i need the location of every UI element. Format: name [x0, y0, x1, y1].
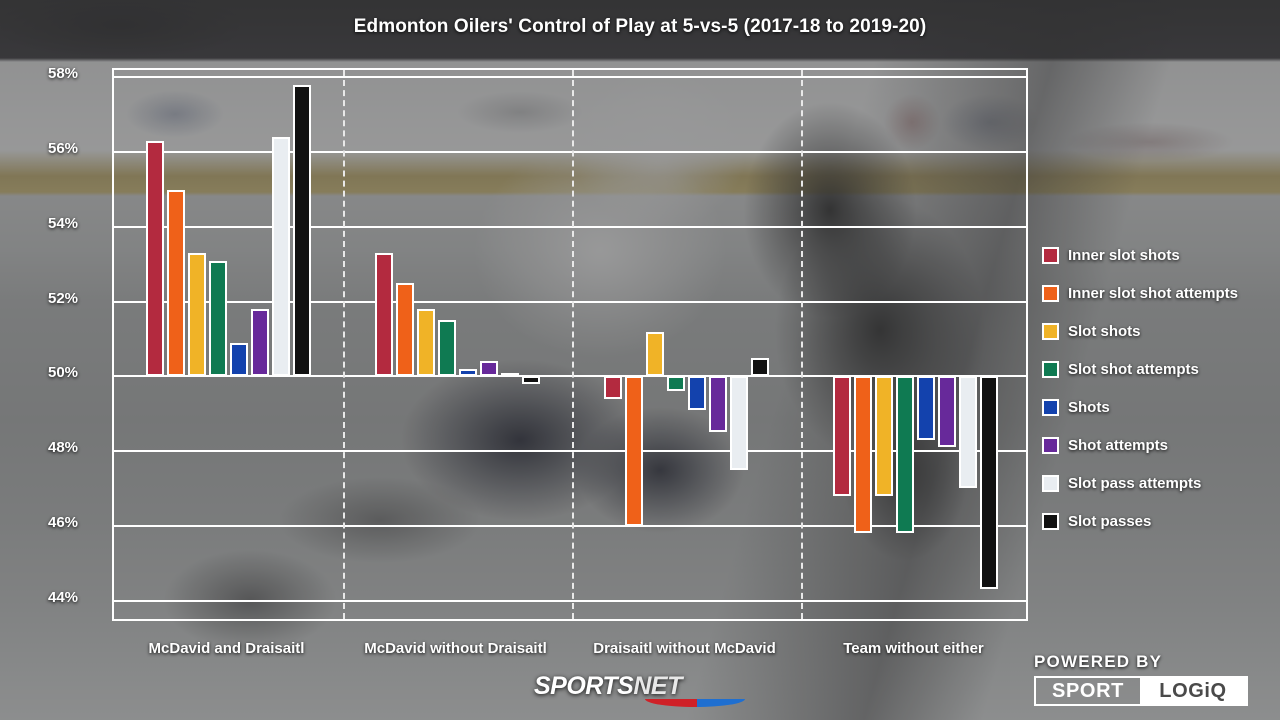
legend-item: Slot pass attempts	[1042, 464, 1272, 502]
bar	[272, 137, 290, 376]
bar	[480, 361, 498, 376]
y-axis-tick-56: 56%	[48, 140, 94, 157]
group-separator	[343, 70, 345, 619]
legend-item: Shots	[1042, 388, 1272, 426]
bar	[438, 320, 456, 376]
x-axis-label-group-1: McDavid and Draisaitl	[112, 640, 341, 657]
legend-label: Slot shots	[1068, 323, 1141, 340]
gridline	[114, 525, 1026, 527]
bar	[938, 376, 956, 447]
bar	[375, 253, 393, 376]
bar	[959, 376, 977, 488]
legend-item: Slot passes	[1042, 502, 1272, 540]
legend-label: Inner slot shot attempts	[1068, 285, 1238, 302]
powered-by-block: POWERED BY SPORT LOGiQ	[1034, 652, 1254, 706]
bar	[646, 332, 664, 377]
y-axis-tick-46: 46%	[48, 514, 94, 531]
bar	[167, 190, 185, 377]
x-axis-label-group-4: Team without either	[799, 640, 1028, 657]
bar	[980, 376, 998, 589]
legend-label: Slot shot attempts	[1068, 361, 1199, 378]
y-axis-tick-58: 58%	[48, 65, 94, 82]
y-axis-tick-44: 44%	[48, 589, 94, 606]
legend-item: Slot shots	[1042, 312, 1272, 350]
sportlogiq-logiq-text: LOGiQ	[1140, 678, 1246, 704]
legend-item: Inner slot shots	[1042, 236, 1272, 274]
legend-swatch-icon	[1042, 475, 1059, 492]
legend-swatch-icon	[1042, 323, 1059, 340]
sportlogiq-sport-text: SPORT	[1036, 678, 1140, 704]
bar	[459, 369, 477, 376]
bar	[896, 376, 914, 533]
legend-label: Slot pass attempts	[1068, 475, 1201, 492]
chart-screenshot: Edmonton Oilers' Control of Play at 5-vs…	[0, 0, 1280, 720]
bar	[293, 85, 311, 376]
bar	[667, 376, 685, 391]
x-axis-label-group-2: McDavid without Draisaitl	[341, 640, 570, 657]
bar	[396, 283, 414, 376]
bar	[751, 358, 769, 377]
bar	[209, 261, 227, 377]
group-separator	[801, 70, 803, 619]
legend-swatch-icon	[1042, 437, 1059, 454]
y-axis-tick-54: 54%	[48, 215, 94, 232]
sportsnet-sport-text: SPORTS	[534, 672, 633, 700]
gridline	[114, 151, 1026, 153]
x-axis-label-group-3: Draisaitl without McDavid	[570, 640, 799, 657]
bar	[709, 376, 727, 432]
sportsnet-net-text: NET	[633, 672, 682, 700]
bar	[501, 373, 519, 377]
sportlogiq-lockup: SPORT LOGiQ	[1034, 676, 1248, 706]
bar	[917, 376, 935, 440]
legend-swatch-icon	[1042, 361, 1059, 378]
legend-label: Inner slot shots	[1068, 247, 1180, 264]
bar	[875, 376, 893, 496]
gridline	[114, 301, 1026, 303]
chart-title: Edmonton Oilers' Control of Play at 5-vs…	[0, 16, 1280, 38]
legend-item: Inner slot shot attempts	[1042, 274, 1272, 312]
bar	[146, 141, 164, 376]
gridline	[114, 226, 1026, 228]
group-separator	[572, 70, 574, 619]
legend-item: Shot attempts	[1042, 426, 1272, 464]
sportsnet-logo: SPORTSNET	[534, 672, 682, 701]
bar	[604, 376, 622, 398]
legend-swatch-icon	[1042, 399, 1059, 416]
chart-legend: Inner slot shotsInner slot shot attempts…	[1042, 236, 1272, 540]
powered-by-text: POWERED BY	[1034, 652, 1254, 672]
bar	[522, 376, 540, 383]
bar	[625, 376, 643, 525]
legend-label: Slot passes	[1068, 513, 1151, 530]
legend-swatch-icon	[1042, 247, 1059, 264]
bar	[688, 376, 706, 410]
bar	[230, 343, 248, 377]
bar	[417, 309, 435, 376]
gridline	[114, 76, 1026, 78]
legend-swatch-icon	[1042, 285, 1059, 302]
legend-label: Shot attempts	[1068, 437, 1168, 454]
bar	[251, 309, 269, 376]
bar	[188, 253, 206, 376]
bar	[833, 376, 851, 496]
gridline	[114, 600, 1026, 602]
y-axis-tick-52: 52%	[48, 290, 94, 307]
legend-label: Shots	[1068, 399, 1110, 416]
bar	[854, 376, 872, 533]
legend-item: Slot shot attempts	[1042, 350, 1272, 388]
y-axis-tick-50: 50%	[48, 364, 94, 381]
y-axis-tick-48: 48%	[48, 439, 94, 456]
legend-swatch-icon	[1042, 513, 1059, 530]
bar	[730, 376, 748, 469]
plot-area	[112, 68, 1028, 621]
